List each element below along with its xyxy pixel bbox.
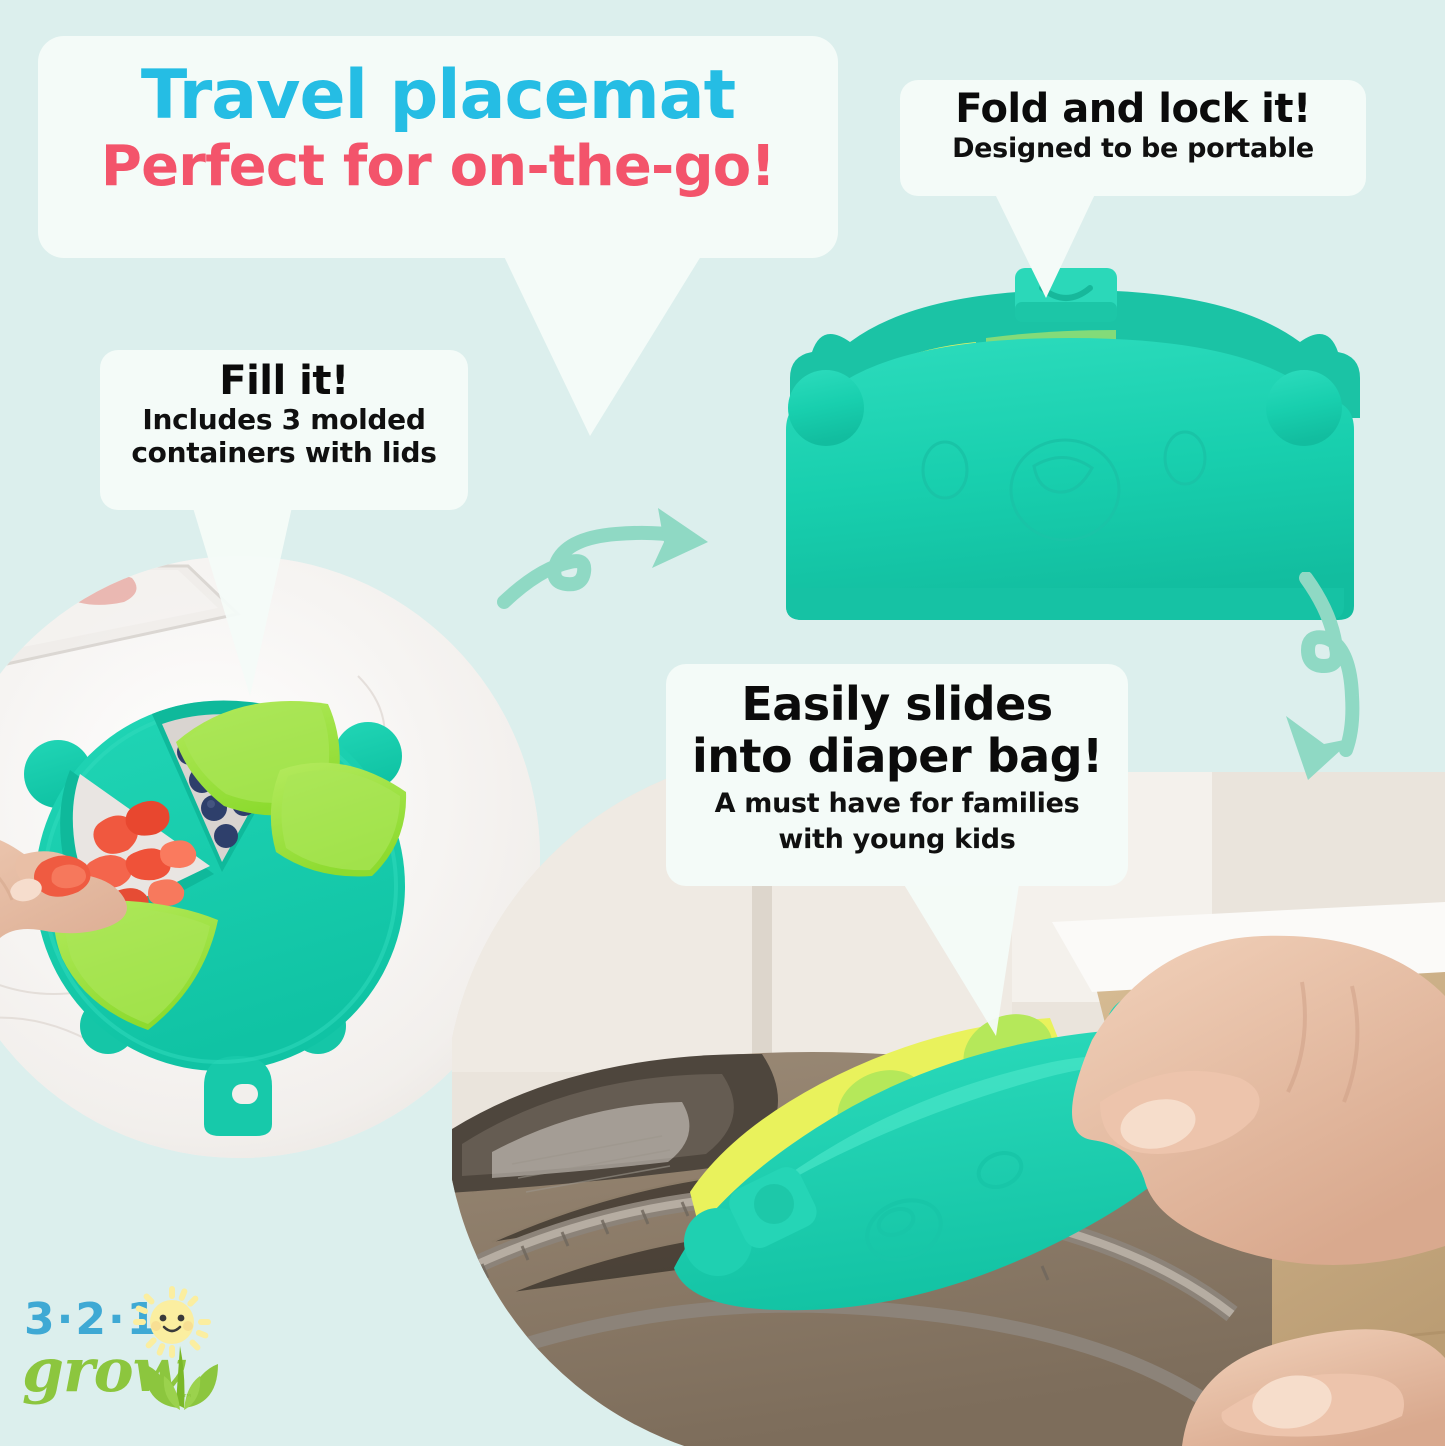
slides-subtext-line-2: with young kids [692,825,1102,855]
callout-fill-it: Fill it! Includes 3 molded containers wi… [100,350,468,510]
logo-trademark: ™ [182,1392,193,1405]
slides-heading-line-1: Easily slides [692,678,1102,730]
callout-tail-slides [900,878,1070,1038]
callout-fold-and-lock: Fold and lock it! Designed to be portabl… [900,80,1366,196]
fold-subtext: Designed to be portable [926,134,1340,164]
fill-subtext-line-2: containers with lids [126,437,442,468]
title-line-1: Travel placemat [64,62,812,130]
callout-tail-title [500,248,830,438]
curly-arrow-right-icon [492,498,712,618]
callout-travel-placemat: Travel placemat Perfect for on-the-go! [38,36,838,258]
title-line-2: Perfect for on-the-go! [64,136,812,199]
fill-heading: Fill it! [126,360,442,402]
callout-tail-fold [988,192,1108,300]
grass-leaf-icon [142,1342,222,1420]
brand-logo: 3·2·1 grow [22,1288,232,1420]
callout-easily-slides: Easily slides into diaper bag! A must ha… [666,664,1128,886]
lid-right [271,763,406,877]
infographic-canvas: Travel placemat Perfect for on-the-go! F… [0,0,1445,1446]
curly-arrow-down-icon [1262,572,1392,792]
fill-subtext-line-1: Includes 3 molded [126,404,442,435]
slides-heading-line-2: into diaper bag! [692,730,1102,782]
fold-heading: Fold and lock it! [926,88,1340,130]
slides-subtext-line-1: A must have for families [692,789,1102,819]
callout-tail-fill [190,498,350,698]
